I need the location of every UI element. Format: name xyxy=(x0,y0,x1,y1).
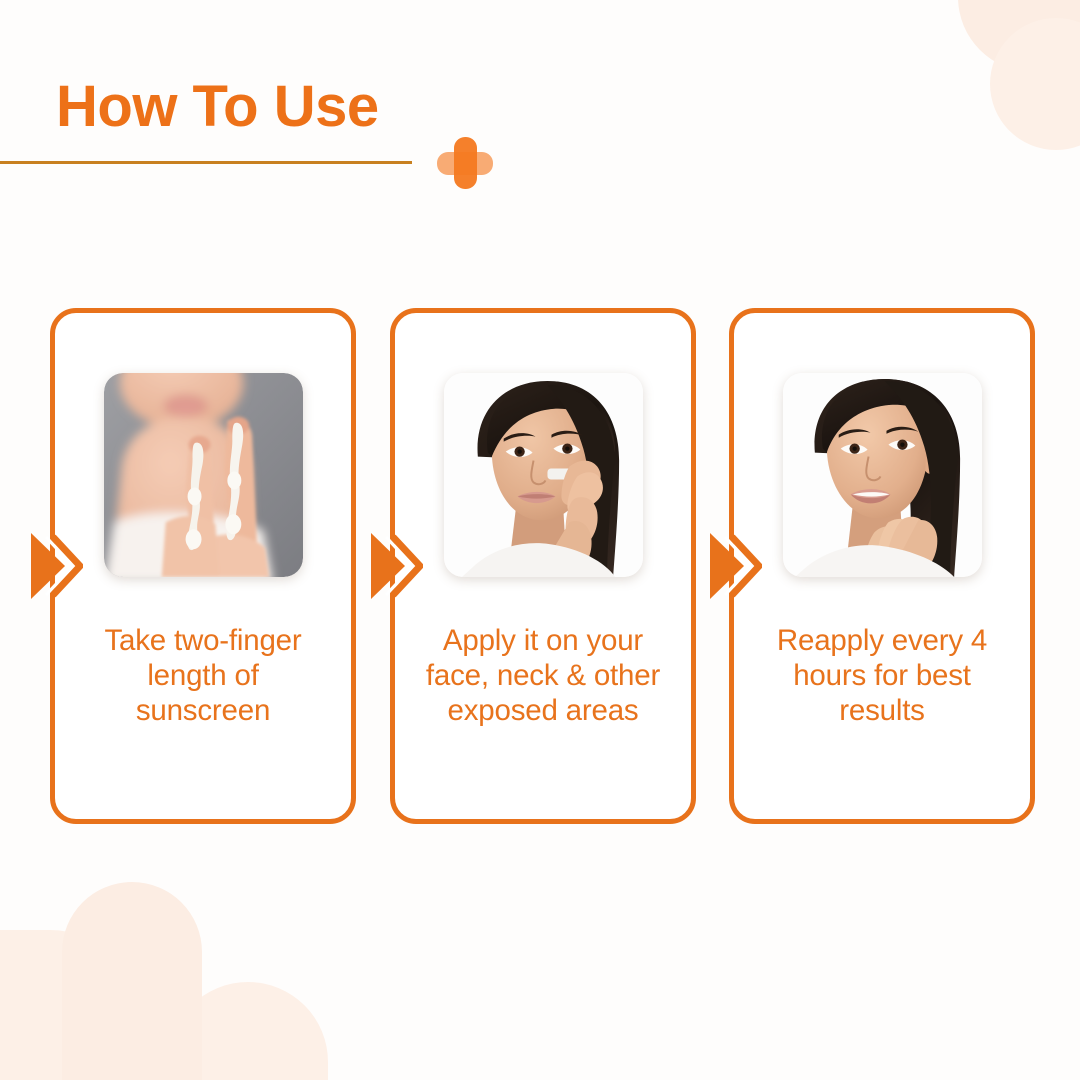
decorative-shape-bottom-left-1 xyxy=(62,882,202,1080)
plus-badge-icon xyxy=(437,137,493,189)
step-1-image xyxy=(104,373,303,577)
step-card-2[interactable]: Apply it on your face, neck & other expo… xyxy=(390,308,696,824)
step-card-3[interactable]: Reapply every 4 hours for best results xyxy=(729,308,1035,824)
step-2-image xyxy=(444,373,643,577)
decorative-shape-bottom-left-2 xyxy=(0,930,140,1080)
chevron-right-arrow-icon xyxy=(27,525,83,607)
plus-vertical-bar xyxy=(454,137,477,189)
how-to-use-infographic: How To Use xyxy=(0,0,1080,1080)
decorative-circle-top-right-2 xyxy=(990,18,1080,150)
step-2-caption: Apply it on your face, neck & other expo… xyxy=(418,623,668,728)
header: How To Use xyxy=(0,74,520,140)
step-3-image xyxy=(783,373,982,577)
steps-row: Take two-finger length of sunscreen xyxy=(0,308,1080,824)
decorative-shape-bottom-left-3 xyxy=(168,982,328,1080)
chevron-right-arrow-icon xyxy=(367,525,423,607)
decorative-circle-top-right-1 xyxy=(958,0,1080,72)
step-card-1[interactable]: Take two-finger length of sunscreen xyxy=(50,308,356,824)
page-title: How To Use xyxy=(0,74,520,140)
step-1-caption: Take two-finger length of sunscreen xyxy=(78,623,328,728)
title-divider xyxy=(0,161,412,164)
step-3-caption: Reapply every 4 hours for best results xyxy=(757,623,1007,728)
chevron-right-arrow-icon xyxy=(706,525,762,607)
